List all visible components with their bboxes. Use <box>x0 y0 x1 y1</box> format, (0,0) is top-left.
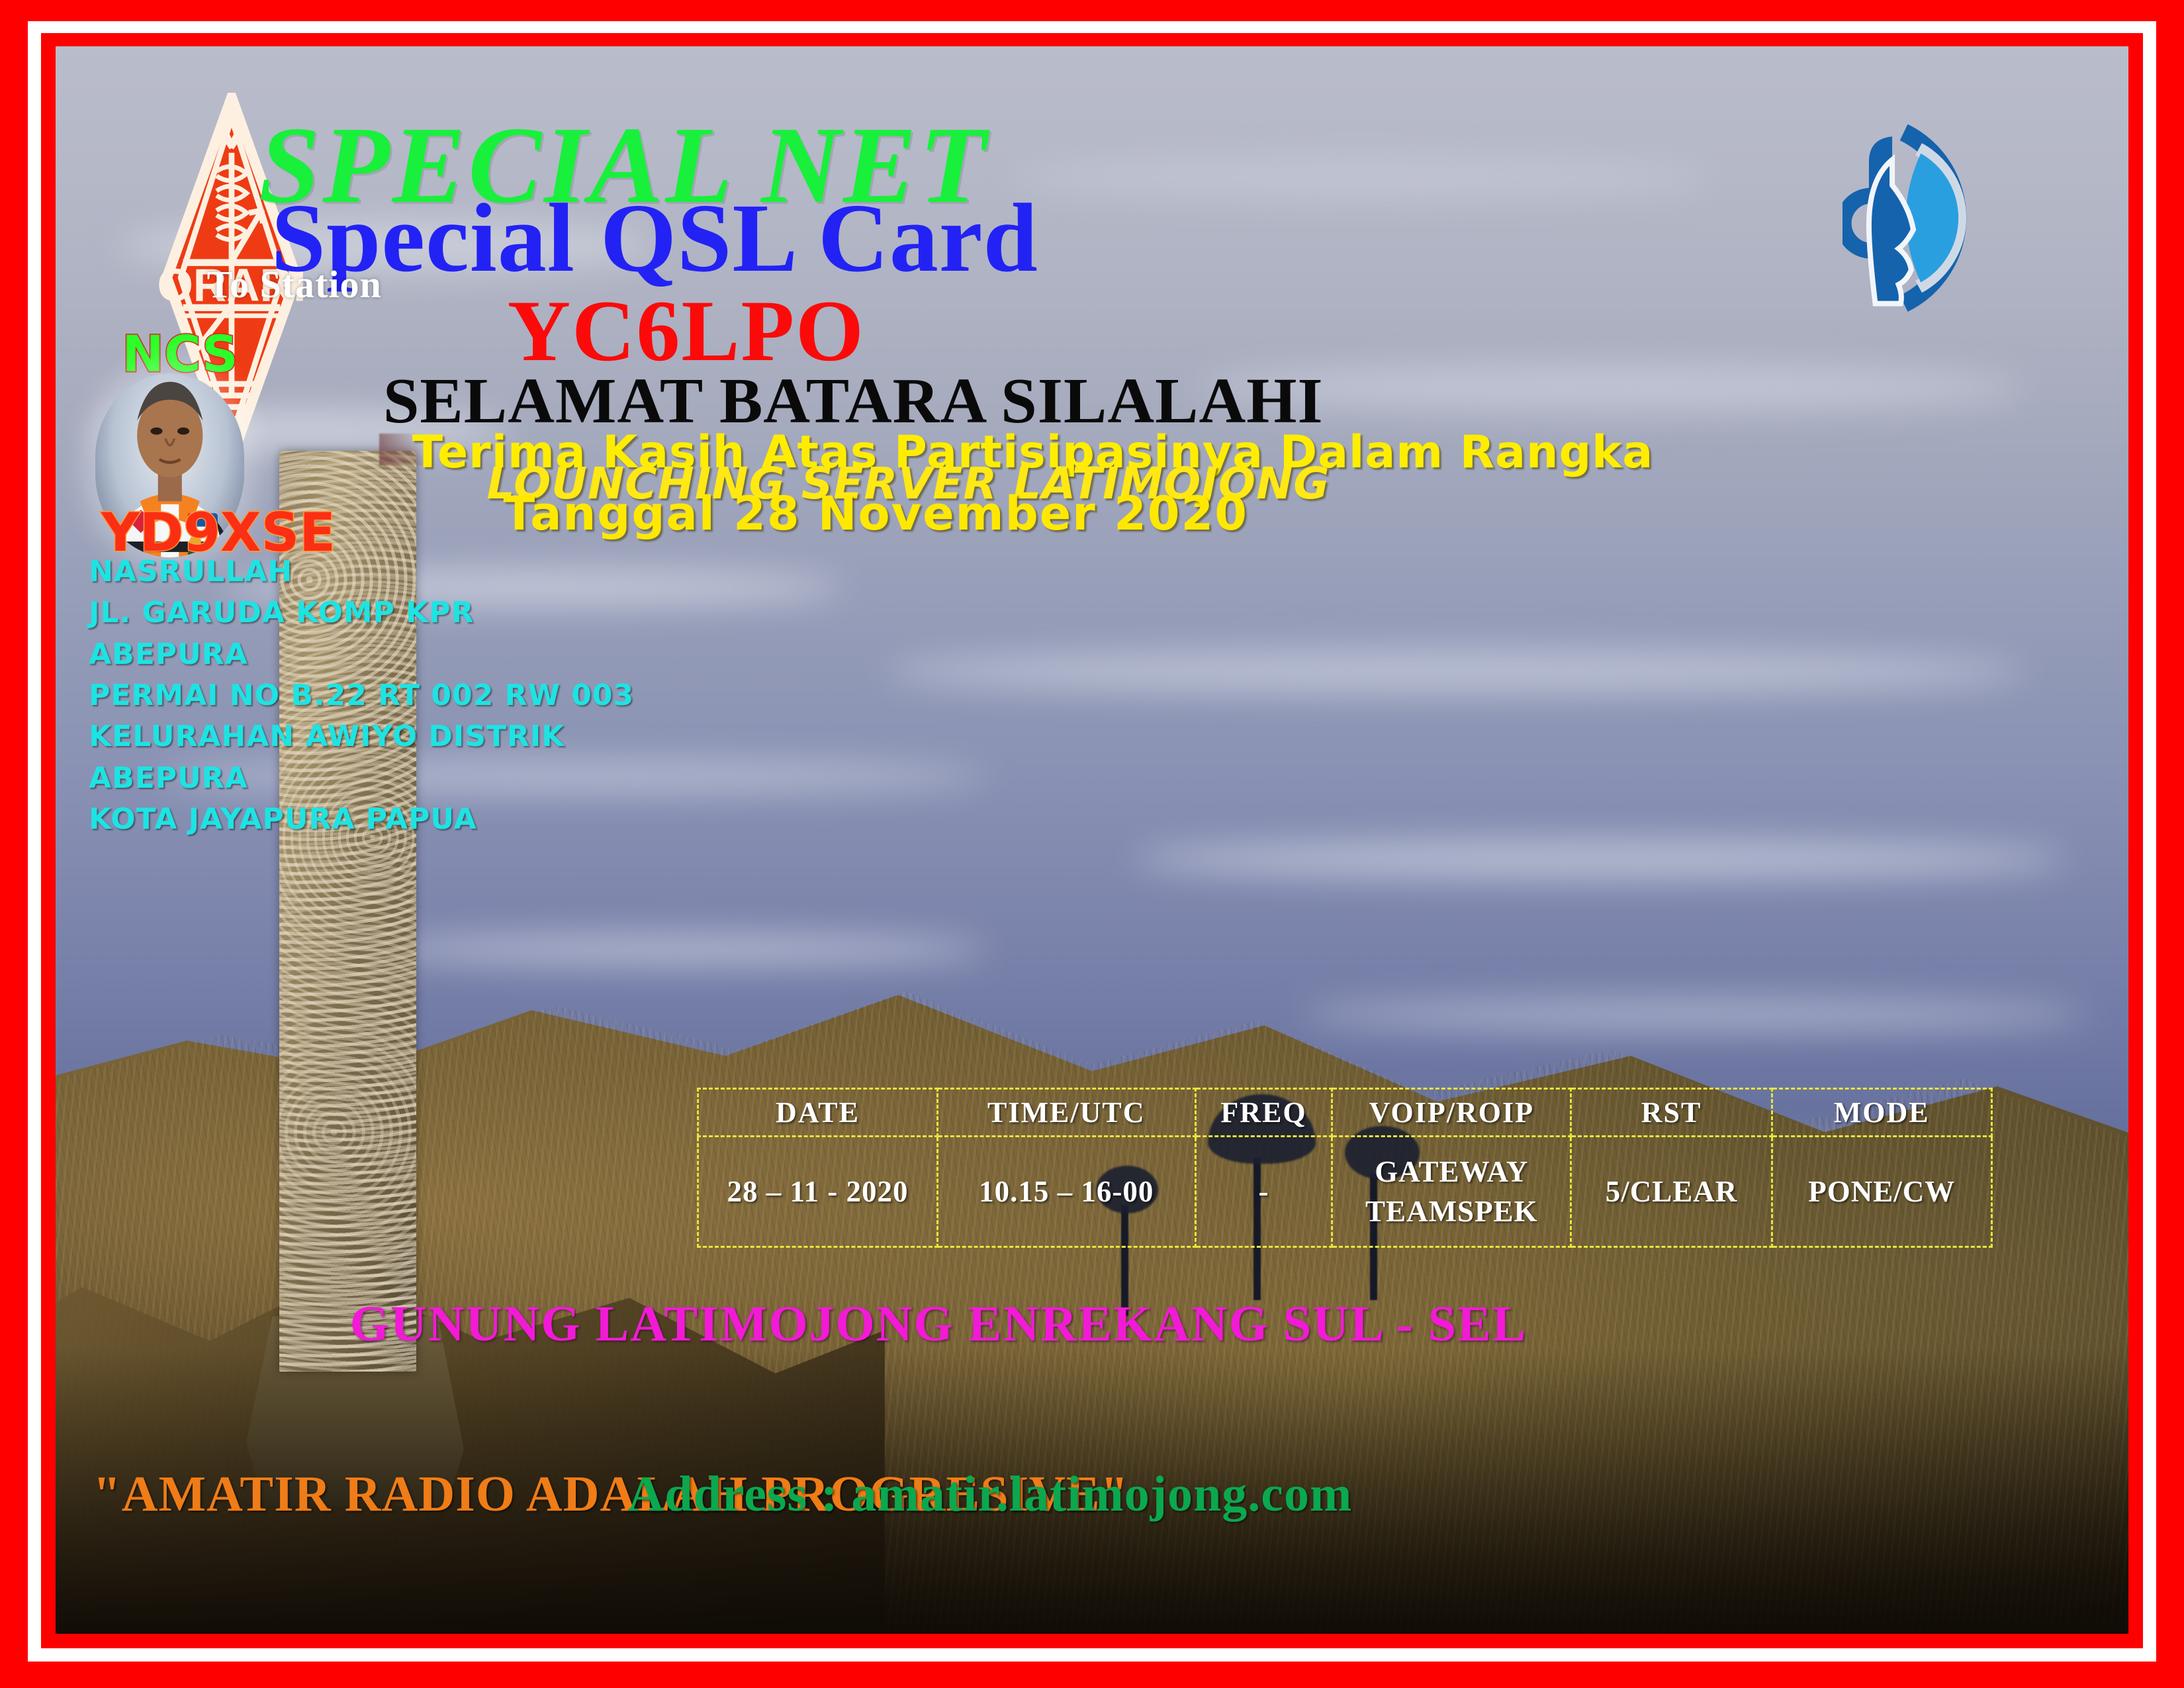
address-line: KELURAHAN AWIYO DISTRIK <box>89 716 634 757</box>
table-header-row: DATE TIME/UTC FREQ VOIP/ROIP RST MODE <box>698 1089 1992 1137</box>
cell-freq: - <box>1195 1137 1332 1247</box>
table-row: 28 – 11 - 2020 10.15 – 16-00 - GATEWAY T… <box>698 1137 1992 1247</box>
greeting-text: SELAMAT BATARA SILALAHI <box>383 369 1324 434</box>
recipient-callsign: YC6LPO <box>508 287 865 375</box>
operator-address-block: NASRULLAH JL. GARUDA KOMP KPR ABEPURA PE… <box>89 551 634 841</box>
card-overlay: ORARI <box>56 46 2128 1634</box>
to-station-label: To Station <box>207 265 382 304</box>
column-header-voip: VOIP/ROIP <box>1332 1089 1571 1137</box>
qso-log-table: DATE TIME/UTC FREQ VOIP/ROIP RST MODE 28… <box>697 1088 1993 1248</box>
cell-time: 10.15 – 16-00 <box>937 1137 1195 1247</box>
cell-voip: GATEWAY TEAMSPEK <box>1332 1137 1571 1247</box>
background-photograph: ORARI <box>56 46 2128 1634</box>
column-header-rst: RST <box>1571 1089 1772 1137</box>
column-header-mode: MODE <box>1772 1089 1991 1137</box>
cell-voip-line1: GATEWAY <box>1375 1155 1528 1188</box>
event-date-text: Tanggal 28 November 2020 <box>504 491 1248 537</box>
column-header-date: DATE <box>698 1089 937 1137</box>
headphone-voice-logo <box>1843 97 2054 338</box>
cell-rst: 5/CLEAR <box>1571 1137 1772 1247</box>
cell-voip-line2: TEAMSPEK <box>1365 1195 1538 1228</box>
ncs-badge: NCS <box>122 329 238 379</box>
address-line: ABEPURA <box>89 634 634 675</box>
address-line: KOTA JAYAPURA PAPUA <box>89 799 634 840</box>
address-line: ABEPURA <box>89 758 634 799</box>
qsl-card: ORARI <box>0 0 2184 1688</box>
page-subtitle: Special QSL Card <box>271 189 1038 287</box>
column-header-freq: FREQ <box>1195 1089 1332 1137</box>
card-frame-white: ORARI <box>28 21 2156 1662</box>
address-line: JL. GARUDA KOMP KPR <box>89 592 634 633</box>
location-text: GUNUNG LATIMOJONG ENREKANG SUL - SEL <box>350 1299 1527 1349</box>
address-line: NASRULLAH <box>89 551 634 592</box>
card-frame-red-inner: ORARI <box>41 33 2143 1648</box>
cell-mode: PONE/CW <box>1772 1137 1991 1247</box>
cell-date: 28 – 11 - 2020 <box>698 1137 937 1247</box>
column-header-time: TIME/UTC <box>937 1089 1195 1137</box>
website-address-text: Address : amatir.latimojong.com <box>627 1469 1352 1519</box>
address-line: PERMAI NO B.22 RT 002 RW 003 <box>89 675 634 716</box>
